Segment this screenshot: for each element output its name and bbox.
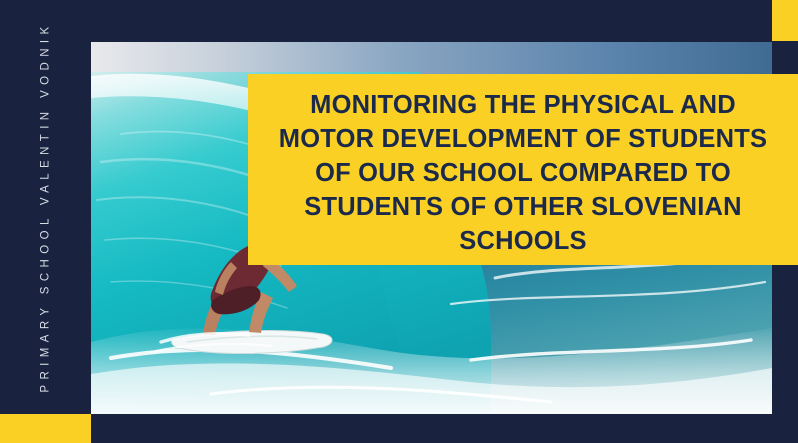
title-line-1: MONITORING THE PHYSICAL AND <box>310 88 736 122</box>
sidebar-school-name: PRIMARY SCHOOL VALENTIN VODNIK <box>0 0 91 414</box>
title-line-4: STUDENTS OF OTHER SLOVENIAN <box>304 190 742 224</box>
accent-block-bottom-left <box>0 414 91 443</box>
accent-block-top-right <box>772 0 798 41</box>
presentation-slide: PRIMARY SCHOOL VALENTIN VODNIK <box>0 0 798 443</box>
sidebar-school-name-label: PRIMARY SCHOOL VALENTIN VODNIK <box>40 21 52 392</box>
slide-title-panel: MONITORING THE PHYSICAL AND MOTOR DEVELO… <box>248 74 798 265</box>
title-line-3: OF OUR SCHOOL COMPARED TO <box>315 156 731 190</box>
title-line-2: MOTOR DEVELOPMENT OF STUDENTS <box>279 122 767 156</box>
title-line-5: SCHOOLS <box>459 224 587 258</box>
